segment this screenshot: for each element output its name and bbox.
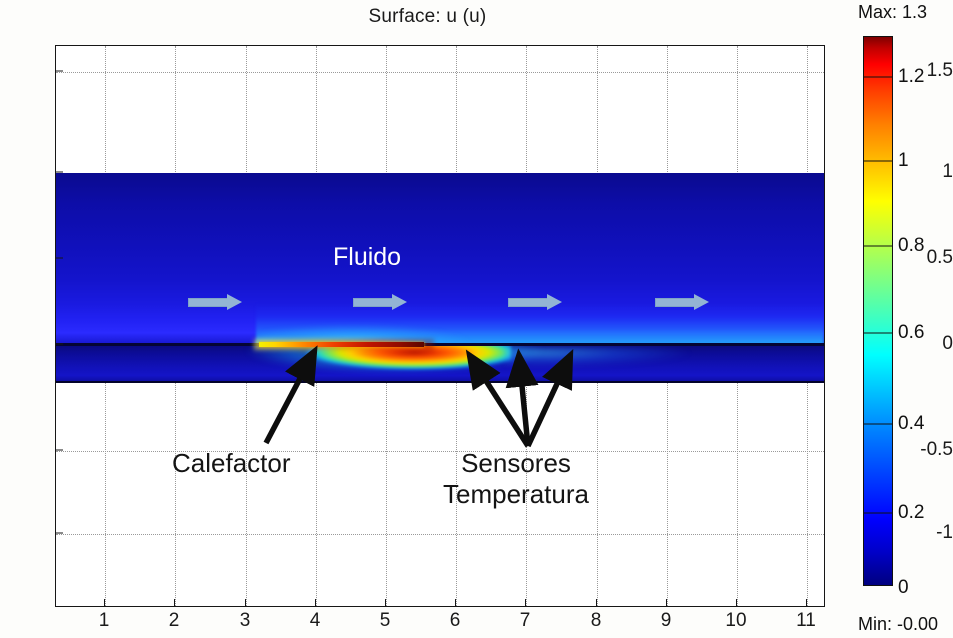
xtick-mark-1 (104, 599, 105, 607)
ytick-mark--0.5 (55, 450, 63, 451)
colorbar-min-label: Min: -0.00 (858, 614, 938, 635)
colorbar (863, 36, 893, 586)
colorbar-tick-0.2 (863, 513, 893, 514)
fluid-label: Fluido (333, 243, 401, 272)
calefactor-label: Calefactor (172, 448, 291, 479)
xtick-mark-3 (245, 599, 246, 607)
colorbar-tick-label-0.6: 0.6 (898, 322, 924, 344)
sensores-label-line2: Temperatura (443, 479, 589, 510)
heater-plume-tail (506, 347, 824, 377)
xtick-mark-8 (596, 599, 597, 607)
plot-title: Surface: u (u) (0, 6, 855, 28)
ytick-label-1: 1 (907, 161, 953, 183)
support-bottom-edge (56, 381, 824, 383)
xtick-mark-11 (806, 599, 807, 607)
xtick-label-9: 9 (646, 610, 686, 632)
xtick-label-1: 1 (84, 610, 124, 632)
flow-arrow-head (694, 294, 709, 310)
xtick-label-6: 6 (435, 610, 475, 632)
flow-arrow-1 (188, 294, 242, 311)
flow-arrow-shaft (188, 298, 228, 307)
gridline-y--1 (56, 534, 824, 535)
flow-arrow-shaft (353, 298, 393, 307)
heater-plume (256, 345, 556, 383)
fluid-domain-surface (56, 173, 824, 345)
xtick-label-8: 8 (576, 610, 616, 632)
xtick-label-4: 4 (295, 610, 335, 632)
ytick-mark-1.5 (55, 71, 63, 72)
heater-strip (259, 342, 424, 347)
support-domain-surface (56, 345, 824, 383)
colorbar-tick-label-0.2: 0.2 (898, 502, 924, 524)
support-label: Soporte (88, 390, 176, 419)
xtick-mark-2 (174, 599, 175, 607)
colorbar-tick-1 (863, 161, 893, 162)
colorbar-tick-label-0: 0 (898, 577, 909, 599)
colorbar-tick-0.6 (863, 333, 893, 334)
xtick-mark-9 (666, 599, 667, 607)
colorbar-tick-label-0.4: 0.4 (898, 413, 924, 435)
xtick-mark-4 (315, 599, 316, 607)
ytick-label--1: -1 (907, 522, 953, 544)
colorbar-tick-label-0.8: 0.8 (898, 235, 924, 257)
colorbar-tick-0.4 (863, 424, 893, 425)
sensores-temperatura-label: Sensores Temperatura (443, 448, 589, 510)
xtick-mark-5 (385, 599, 386, 607)
ytick-mark--1 (55, 533, 63, 534)
xtick-label-3: 3 (225, 610, 265, 632)
sensores-label-line1: Sensores (461, 448, 571, 478)
flow-arrow-3 (508, 294, 562, 311)
xtick-mark-7 (525, 599, 526, 607)
colorbar-tick-label-1: 1 (898, 150, 909, 172)
colorbar-tick-label-1.2: 1.2 (898, 66, 924, 88)
xtick-mark-6 (455, 599, 456, 607)
flow-arrow-2 (353, 294, 407, 311)
surface-plot-figure: Surface: u (u) (0, 0, 953, 638)
fluid-support-interface (56, 343, 824, 346)
xtick-mark-10 (736, 599, 737, 607)
flow-arrow-shaft (655, 298, 695, 307)
flow-arrow-head (547, 294, 562, 310)
xtick-label-7: 7 (505, 610, 545, 632)
colorbar-max-label: Max: 1.3 (858, 2, 927, 23)
flow-arrow-head (392, 294, 407, 310)
xtick-label-5: 5 (365, 610, 405, 632)
xtick-label-11: 11 (786, 610, 826, 632)
flow-arrow-4 (655, 294, 709, 311)
flow-arrow-head (227, 294, 242, 310)
ytick-mark-1 (55, 172, 63, 173)
gridline-y-1.5 (56, 72, 824, 73)
colorbar-tick-1.2 (863, 77, 893, 78)
ytick-mark-0.5 (55, 258, 63, 259)
xtick-label-10: 10 (716, 610, 756, 632)
plot-area: Fluido Soporte (55, 45, 825, 607)
flow-arrow-shaft (508, 298, 548, 307)
colorbar-tick-0.8 (863, 246, 893, 247)
xtick-label-2: 2 (154, 610, 194, 632)
ytick-label--0.5: -0.5 (907, 439, 953, 461)
ytick-mark-0 (55, 344, 63, 345)
